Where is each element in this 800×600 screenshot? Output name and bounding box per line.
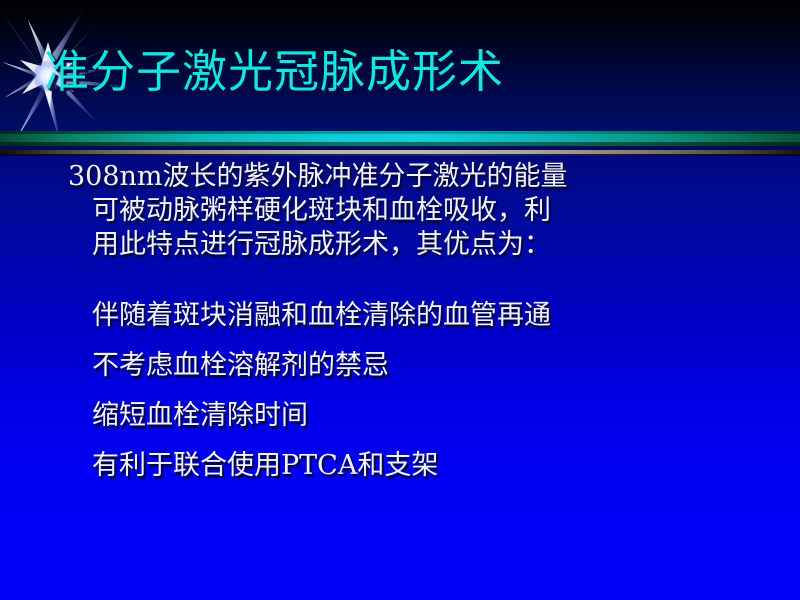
body-bullet-4: 有利于联合使用PTCA和支架 (92, 450, 438, 482)
slide-title-area: 准分子激光冠脉成形术 (0, 0, 800, 133)
body-paragraph-line-3: 用此特点进行冠脉成形术，其优点为： (62, 228, 762, 262)
body-paragraph: 308nm波长的紫外脉冲准分子激光的能量 可被动脉粥样硬化斑块和血栓吸收，利 用… (62, 160, 762, 262)
slide-title: 准分子激光冠脉成形术 (44, 46, 504, 98)
body-bullet-3: 缩短血栓清除时间 (92, 400, 308, 432)
body-paragraph-line-2: 可被动脉粥样硬化斑块和血栓吸收，利 (62, 194, 762, 228)
body-bullet-2: 不考虑血栓溶解剂的禁忌 (92, 350, 389, 382)
body-paragraph-line-1: 308nm波长的紫外脉冲准分子激光的能量 (68, 161, 568, 192)
presentation-slide: 准分子激光冠脉成形术 308nm波长的紫外脉冲准分子激光的能量 可被动脉粥样硬化… (0, 0, 800, 600)
divider-cyan-band (0, 134, 800, 142)
body-bullet-1: 伴随着斑块消融和血栓清除的血管再通 (92, 300, 551, 332)
